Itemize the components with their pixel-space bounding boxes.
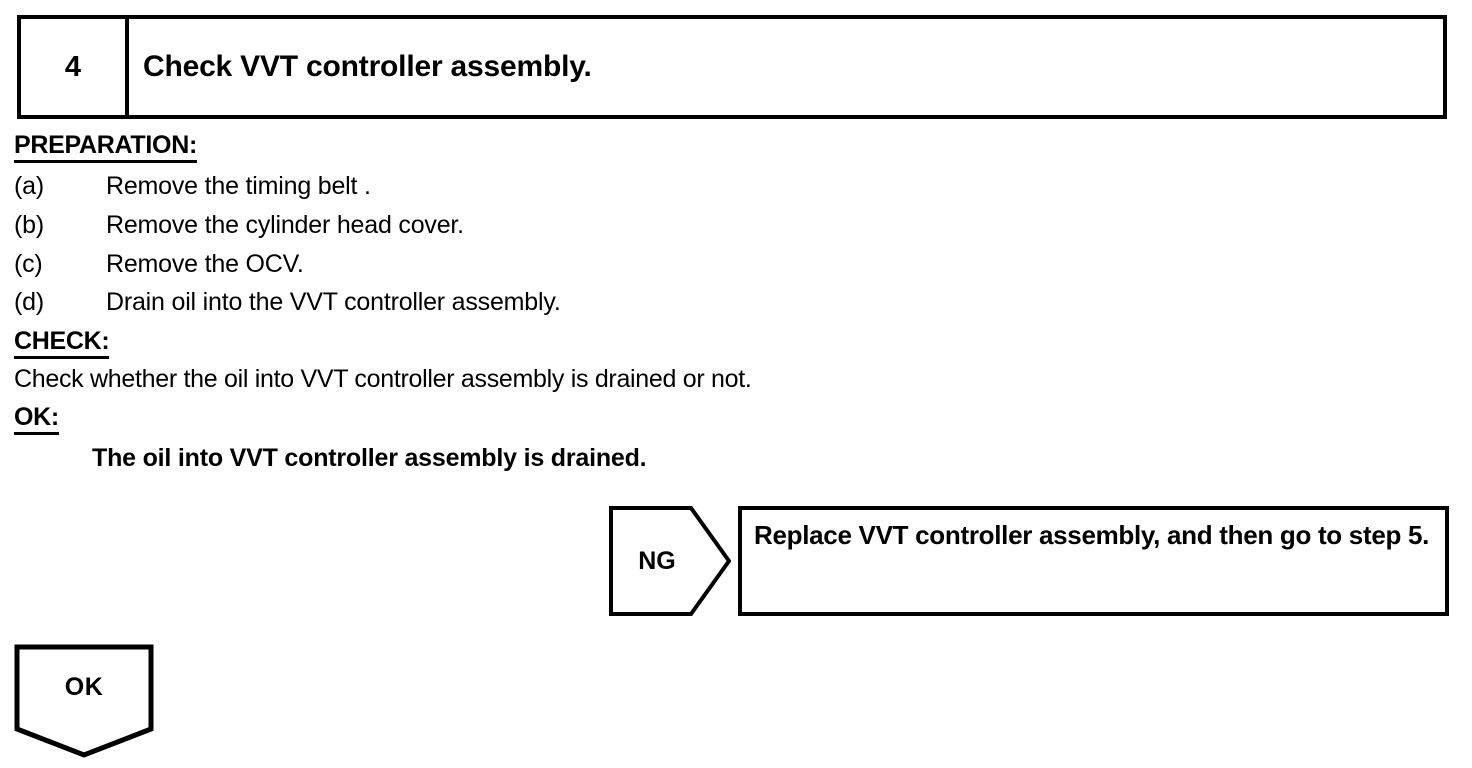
preparation-section: PREPARATION: (a) Remove the timing belt …	[14, 132, 1454, 322]
ng-label: NG	[609, 506, 705, 616]
list-item-text: Drain oil into the VVT controller assemb…	[106, 283, 1454, 322]
step-title-cell: Check VVT controller assembly.	[129, 19, 1443, 115]
list-item-text: Remove the cylinder head cover.	[106, 206, 1454, 245]
step-body: PREPARATION: (a) Remove the timing belt …	[14, 132, 1454, 476]
step-number-cell: 4	[21, 19, 129, 115]
ng-result-box: Replace VVT controller assembly, and the…	[738, 506, 1449, 616]
ng-result-text: Replace VVT controller assembly, and the…	[754, 520, 1433, 551]
step-header-table: 4 Check VVT controller assembly.	[17, 15, 1447, 119]
ok-branch-label: OK	[14, 644, 154, 730]
list-item-text: Remove the OCV.	[106, 245, 1454, 284]
list-item: (d) Drain oil into the VVT controller as…	[14, 283, 1454, 322]
step-title: Check VVT controller assembly.	[143, 50, 592, 84]
list-item-marker: (d)	[14, 283, 106, 322]
ok-arrow-icon: OK	[14, 644, 154, 758]
preparation-heading: PREPARATION:	[14, 132, 197, 163]
ok-section: OK: The oil into VVT controller assembly…	[14, 404, 1454, 476]
ng-branch: NG Replace VVT controller assembly, and …	[609, 506, 1449, 616]
list-item: (a) Remove the timing belt .	[14, 167, 1454, 206]
ok-heading: OK:	[14, 404, 59, 435]
step-number: 4	[65, 51, 81, 84]
list-item: (b) Remove the cylinder head cover.	[14, 206, 1454, 245]
list-item-marker: (c)	[14, 245, 106, 284]
list-item: (c) Remove the OCV.	[14, 245, 1454, 284]
list-item-text: Remove the timing belt .	[106, 167, 1454, 206]
check-text: Check whether the oil into VVT controlle…	[14, 361, 1454, 399]
check-heading: CHECK:	[14, 328, 109, 359]
list-item-marker: (b)	[14, 206, 106, 245]
list-item-marker: (a)	[14, 167, 106, 206]
ok-statement: The oil into VVT controller assembly is …	[92, 441, 1454, 476]
diagnostic-flowchart-page: 4 Check VVT controller assembly. PREPARA…	[0, 0, 1472, 768]
check-section: CHECK: Check whether the oil into VVT co…	[14, 328, 1454, 399]
preparation-list: (a) Remove the timing belt . (b) Remove …	[14, 167, 1454, 322]
